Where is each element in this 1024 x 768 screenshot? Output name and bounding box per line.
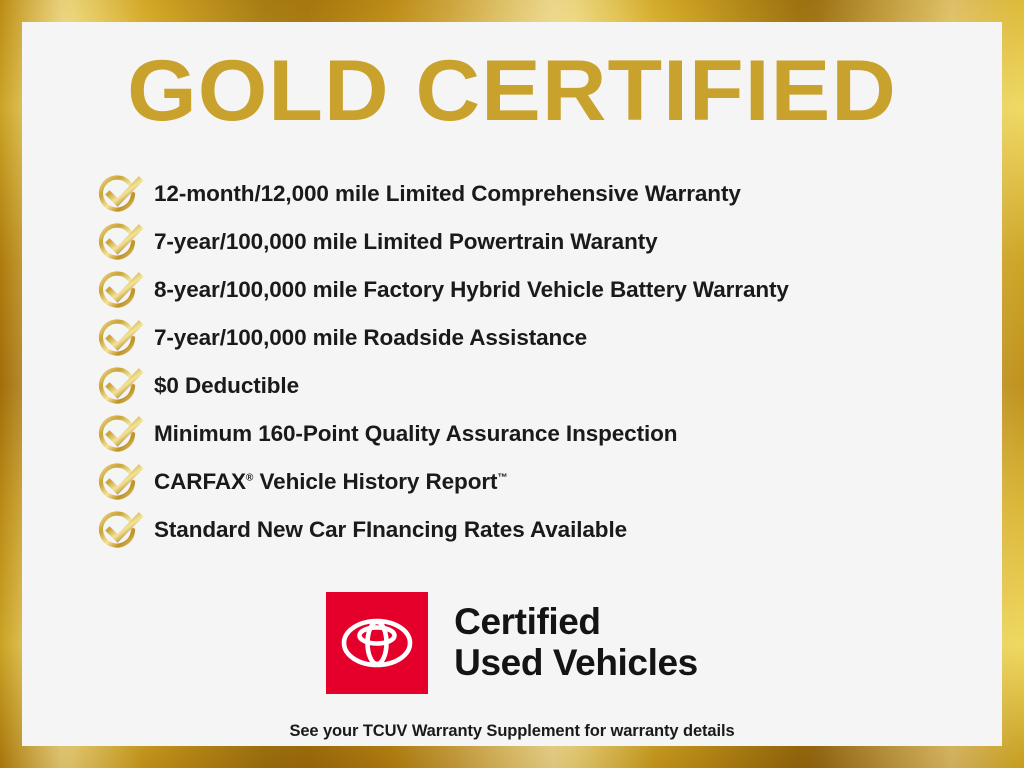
benefit-item: 7-year/100,000 mile Roadside Assistance [96, 314, 972, 362]
check-circle-icon [96, 316, 144, 360]
benefit-item: Standard New Car FInancing Rates Availab… [96, 506, 972, 554]
check-circle-icon [96, 412, 144, 456]
brand-line-2: Used Vehicles [454, 643, 698, 684]
benefit-label: 12-month/12,000 mile Limited Comprehensi… [154, 181, 741, 207]
benefits-list: 12-month/12,000 mile Limited Comprehensi… [96, 170, 972, 554]
gold-certified-poster: GOLD CERTIFIED 12-month/12,000 mile Limi… [0, 0, 1024, 768]
benefit-item: 8-year/100,000 mile Factory Hybrid Vehic… [96, 266, 972, 314]
benefit-item: 7-year/100,000 mile Limited Powertrain W… [96, 218, 972, 266]
check-circle-icon [96, 172, 144, 216]
benefit-item: Minimum 160-Point Quality Assurance Insp… [96, 410, 972, 458]
brand-line-1: Certified [454, 602, 698, 643]
benefit-item: $0 Deductible [96, 362, 972, 410]
benefit-item: 12-month/12,000 mile Limited Comprehensi… [96, 170, 972, 218]
check-circle-icon [96, 220, 144, 264]
registered-mark: ® [246, 473, 253, 484]
benefit-label: CARFAX® Vehicle History Report™ [154, 469, 508, 495]
brand-wordmark: Certified Used Vehicles [454, 602, 698, 683]
poster-panel: GOLD CERTIFIED 12-month/12,000 mile Limi… [22, 22, 1002, 746]
benefit-label: Standard New Car FInancing Rates Availab… [154, 517, 627, 543]
page-title: GOLD CERTIFIED [2, 48, 1021, 134]
benefit-label: $0 Deductible [154, 373, 299, 399]
toyota-brand-lockup: Certified Used Vehicles [22, 592, 1002, 694]
check-circle-icon [96, 508, 144, 552]
benefit-label: 8-year/100,000 mile Factory Hybrid Vehic… [154, 277, 789, 303]
benefit-item: CARFAX® Vehicle History Report™ [96, 458, 972, 506]
warranty-footnote: See your TCUV Warranty Supplement for wa… [22, 722, 1002, 741]
check-circle-icon [96, 460, 144, 504]
toyota-emblem-icon [326, 592, 428, 694]
benefit-label: 7-year/100,000 mile Limited Powertrain W… [154, 229, 658, 255]
trademark-mark: ™ [497, 473, 507, 484]
benefit-label: 7-year/100,000 mile Roadside Assistance [154, 325, 587, 351]
check-circle-icon [96, 364, 144, 408]
check-circle-icon [96, 268, 144, 312]
benefit-label: Minimum 160-Point Quality Assurance Insp… [154, 421, 677, 447]
